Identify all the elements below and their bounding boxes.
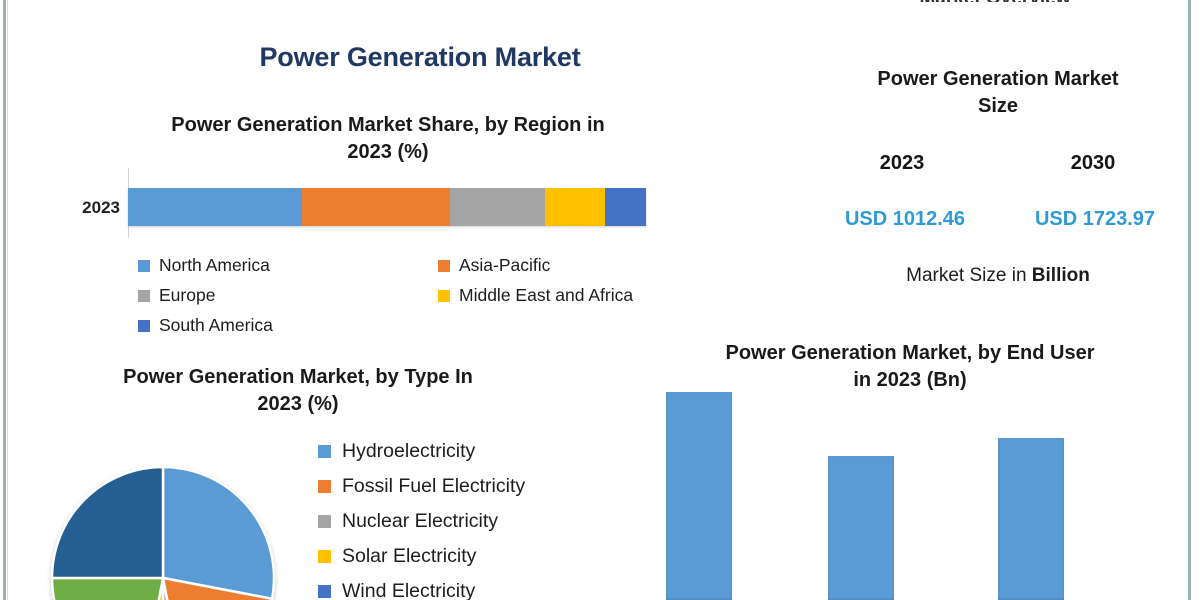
region-legend-swatch-icon (138, 290, 150, 302)
type-legend-swatch-icon (318, 585, 331, 598)
type-legend-label: Nuclear Electricity (342, 510, 498, 533)
region-legend-swatch-icon (138, 260, 150, 272)
type-legend-item[interactable]: Wind Electricity (318, 580, 588, 600)
page-title: Power Generation Market (120, 42, 720, 73)
region-segment-south-america[interactable] (605, 188, 646, 226)
region-legend-swatch-icon (438, 290, 450, 302)
region-legend-item[interactable]: Middle East and Africa (438, 285, 738, 306)
region-legend-item[interactable]: Asia-Pacific (438, 255, 738, 276)
region-chart-title-line1: Power Generation Market Share, by Region… (108, 112, 668, 139)
type-legend-swatch-icon (318, 550, 331, 563)
type-pie-svg (50, 465, 276, 600)
region-stacked-bar-plot (128, 168, 646, 238)
frame-border-left-inner (7, 0, 8, 600)
infographic-canvas: Market Overview Power Generation Market … (0, 0, 1200, 600)
market-size-title-line1: Power Generation Market (822, 66, 1174, 93)
region-legend-item[interactable]: Europe (138, 285, 438, 306)
region-legend-label: Asia-Pacific (459, 255, 550, 276)
type-legend-item[interactable]: Nuclear Electricity (318, 510, 588, 533)
region-legend-swatch-icon (138, 320, 150, 332)
region-chart-title: Power Generation Market Share, by Region… (108, 112, 668, 166)
region-legend-label: Middle East and Africa (459, 285, 633, 306)
market-size-unit-prefix: Market Size in (906, 265, 1032, 286)
type-legend-label: Fossil Fuel Electricity (342, 475, 525, 498)
enduser-bar-plot (640, 392, 1180, 600)
region-legend-swatch-icon (438, 260, 450, 272)
enduser-bar[interactable] (998, 438, 1064, 600)
region-segment-europe[interactable] (450, 188, 545, 226)
region-legend-label: South America (159, 315, 273, 336)
type-legend-swatch-icon (318, 480, 331, 493)
type-legend-item[interactable]: Solar Electricity (318, 545, 588, 568)
frame-border-right (1188, 0, 1191, 600)
enduser-bar[interactable] (666, 392, 732, 600)
type-legend-item[interactable]: Fossil Fuel Electricity (318, 475, 588, 498)
type-chart-title: Power Generation Market, by Type In 2023… (38, 364, 558, 418)
type-legend-label: Hydroelectricity (342, 440, 475, 463)
type-legend-label: Solar Electricity (342, 545, 476, 568)
enduser-chart-title-line2: in 2023 (Bn) (640, 367, 1180, 394)
market-size-year-2023: 2023 (817, 152, 987, 175)
region-legend-item[interactable]: North America (138, 255, 438, 276)
pie-slice-wind-electricity[interactable] (52, 578, 163, 600)
region-segment-middle-east-and-africa[interactable] (545, 188, 604, 226)
pie-slice-hydroelectricity[interactable] (163, 467, 274, 599)
type-chart-title-line1: Power Generation Market, by Type In (38, 364, 558, 391)
type-pie-chart[interactable] (50, 465, 276, 600)
region-segment-asia-pacific[interactable] (302, 188, 450, 226)
enduser-chart-title-line1: Power Generation Market, by End User (640, 340, 1180, 367)
type-legend-item[interactable]: Hydroelectricity (318, 440, 588, 463)
type-legend-swatch-icon (318, 445, 331, 458)
clipped-top-text: Market Overview (880, 0, 1110, 2)
market-size-unit: Market Size in Billion (822, 265, 1174, 287)
type-legend-label: Wind Electricity (342, 580, 475, 600)
region-stacked-bar[interactable] (128, 188, 646, 226)
enduser-bar[interactable] (828, 456, 894, 600)
frame-border-left (3, 0, 6, 600)
region-chart-title-line2: 2023 (%) (108, 139, 668, 166)
market-size-year-2030: 2030 (1008, 152, 1178, 175)
market-size-value-2023: USD 1012.46 (810, 208, 1000, 231)
market-size-unit-bold: Billion (1032, 265, 1090, 286)
type-chart-title-line2: 2023 (%) (38, 391, 558, 418)
market-size-value-2030: USD 1723.97 (1000, 208, 1190, 231)
type-legend-swatch-icon (318, 515, 331, 528)
market-size-title: Power Generation Market Size (822, 66, 1174, 120)
region-category-label: 2023 (58, 198, 120, 218)
market-size-title-line2: Size (822, 93, 1174, 120)
region-legend-label: North America (159, 255, 270, 276)
type-legend: HydroelectricityFossil Fuel ElectricityN… (318, 440, 588, 600)
enduser-chart-title: Power Generation Market, by End User in … (640, 340, 1180, 394)
pie-slice-others[interactable] (52, 467, 163, 578)
region-legend-label: Europe (159, 285, 215, 306)
region-segment-north-america[interactable] (128, 188, 302, 226)
region-legend-item[interactable]: South America (138, 315, 438, 336)
region-legend: North AmericaAsia-PacificEuropeMiddle Ea… (138, 255, 658, 336)
